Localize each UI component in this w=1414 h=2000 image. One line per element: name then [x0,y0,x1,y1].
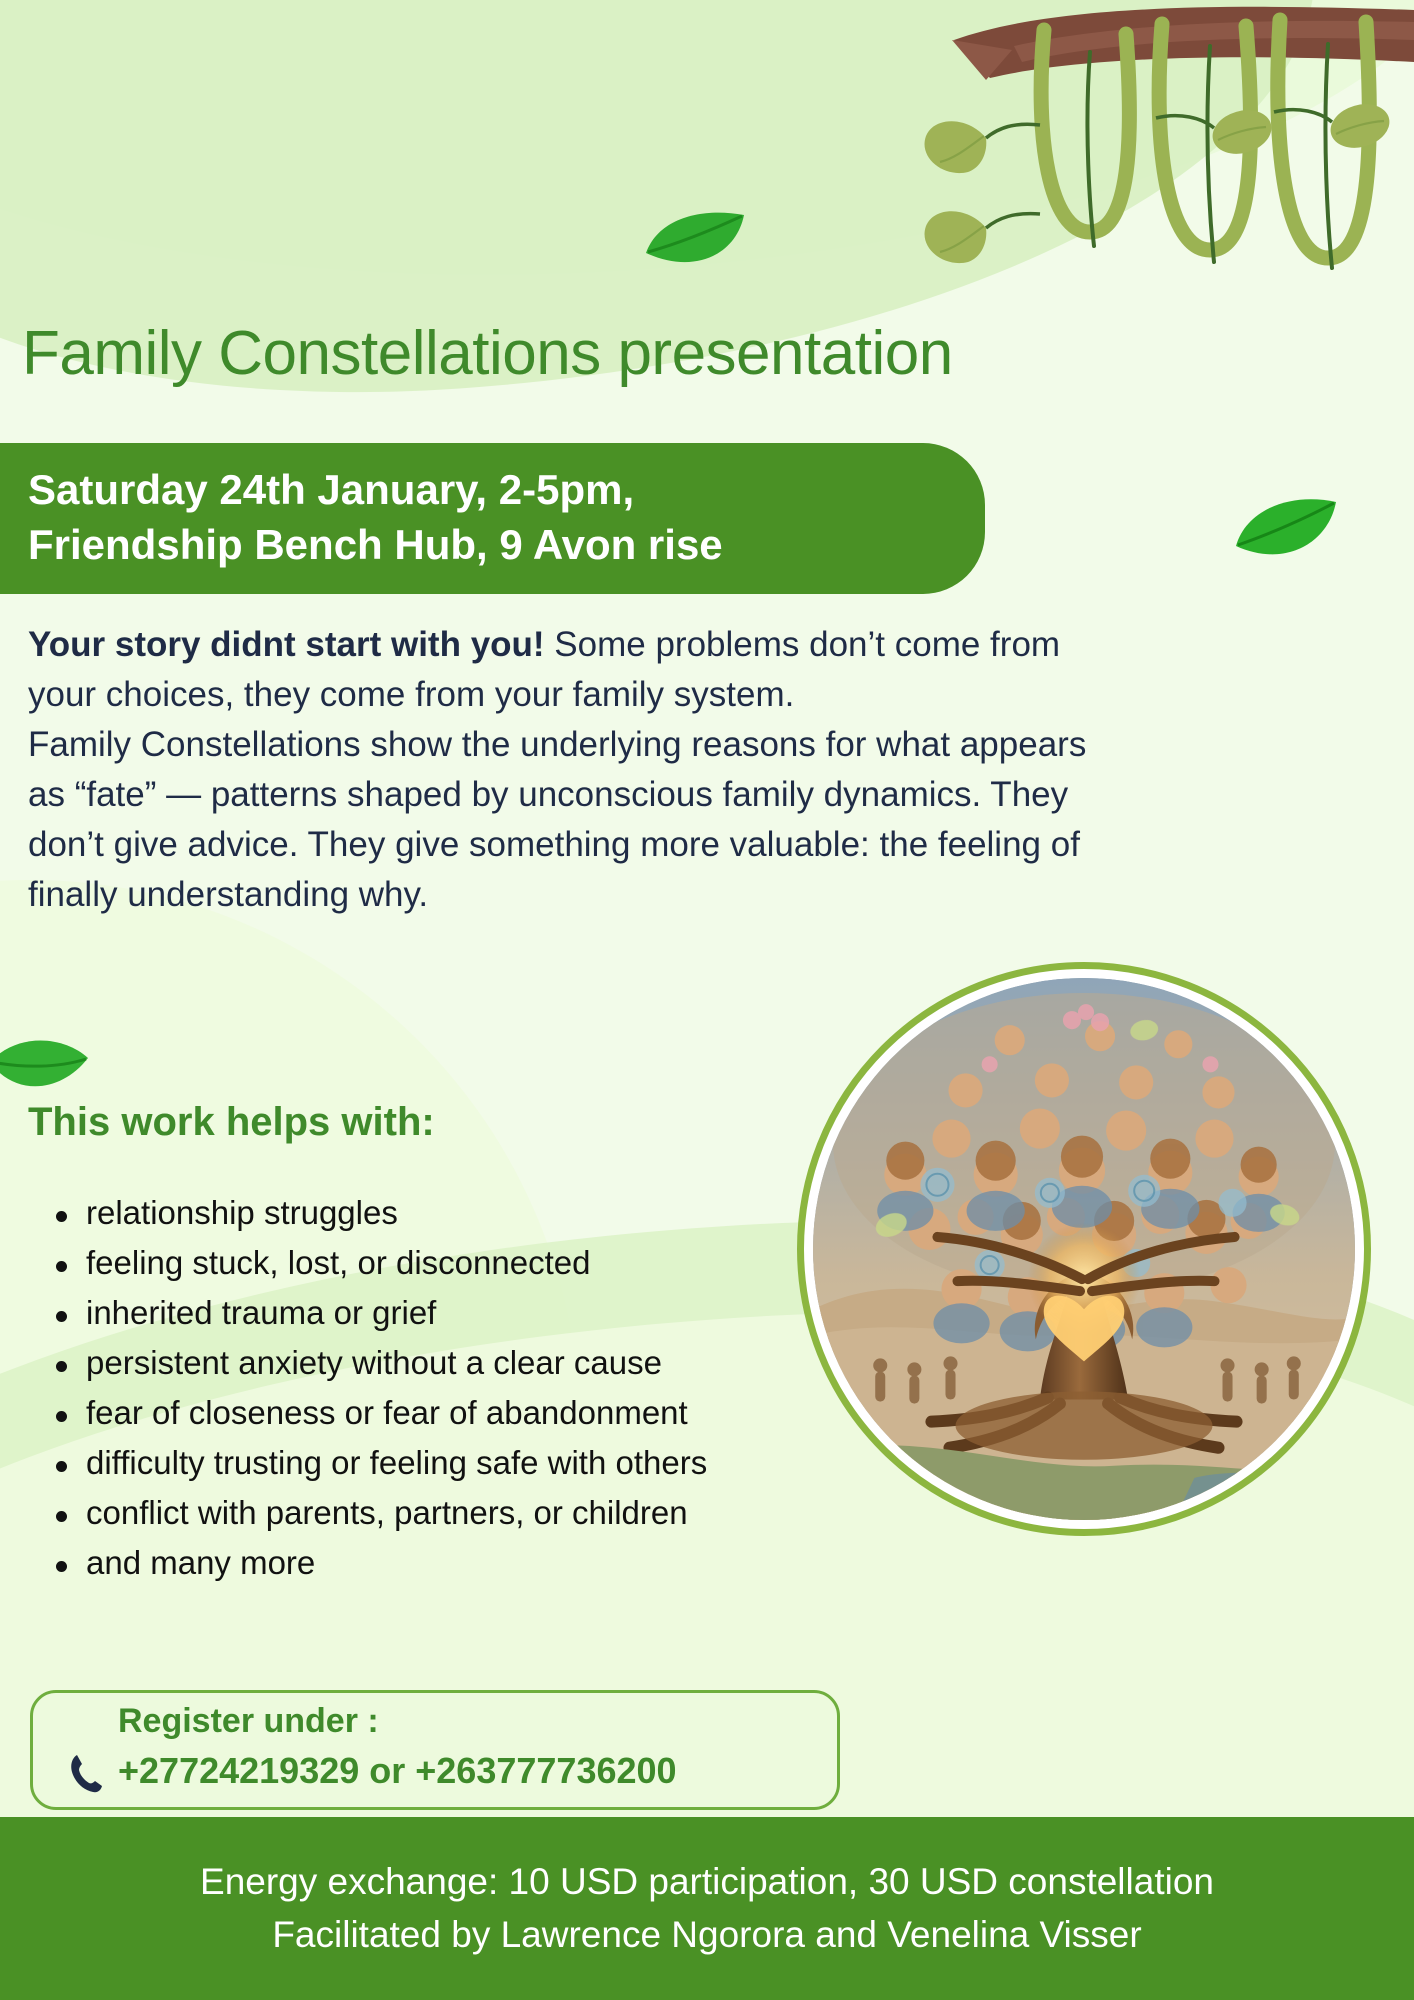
intro-lead: Your story didnt start with you! [28,625,545,664]
list-item: conflict with parents, partners, or chil… [30,1495,930,1532]
intro-text-block: Your story didnt start with you! Some pr… [28,620,1088,920]
list-item: relationship struggles [30,1195,930,1232]
date-location-banner: Saturday 24th January, 2-5pm, Friendship… [0,443,985,594]
footer-bar: Energy exchange: 10 USD participation, 3… [0,1817,1414,2000]
branch-vine-decoration [894,0,1414,300]
list-item: and many more [30,1545,930,1582]
phone-icon [66,1751,106,1795]
banner-line-venue: Friendship Bench Hub, 9 Avon rise [28,518,945,573]
list-item: feeling stuck, lost, or disconnected [30,1245,930,1282]
register-label: Register under : [118,1702,379,1741]
register-box: Register under : +27724219329 or +263777… [30,1690,840,1810]
footer-line-pricing: Energy exchange: 10 USD participation, 3… [200,1856,1214,1909]
page-title: Family Constellations presentation [22,318,953,389]
footer-line-facilitators: Facilitated by Lawrence Ngorora and Vene… [272,1909,1141,1962]
flyer-poster: Family Constellations presentation Satur… [0,0,1414,2000]
list-item: persistent anxiety without a clear cause [30,1345,930,1382]
floating-leaf-icon-left [0,1028,98,1108]
helps-list: relationship struggles feeling stuck, lo… [30,1195,930,1595]
helps-heading: This work helps with: [28,1100,435,1145]
list-item: difficulty trusting or feeling safe with… [30,1445,930,1482]
intro-paragraph-2: Family Constellations show the underlyin… [28,720,1088,920]
banner-line-date: Saturday 24th January, 2-5pm, [28,463,945,518]
floating-leaf-icon-right [1228,490,1343,570]
list-item: fear of closeness or fear of abandonment [30,1395,930,1432]
list-item: inherited trauma or grief [30,1295,930,1332]
floating-leaf-icon-top [640,205,750,275]
register-phone-numbers[interactable]: +27724219329 or +263777736200 [118,1750,677,1792]
